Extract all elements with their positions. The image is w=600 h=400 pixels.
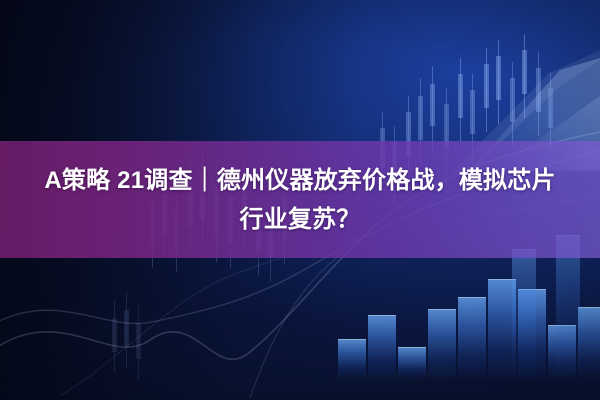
headline-band: A策略 21调查｜德州仪器放弃价格战，模拟芯片 行业复苏？ [0,141,600,258]
headline-line-1: A策略 21调查｜德州仪器放弃价格战，模拟芯片 [20,161,580,200]
page-title: A策略 21调查｜德州仪器放弃价格战，模拟芯片 行业复苏？ [20,161,580,239]
headline-line-2: 行业复苏？ [20,200,580,239]
article-banner: A策略 21调查｜德州仪器放弃价格战，模拟芯片 行业复苏？ [0,0,600,400]
